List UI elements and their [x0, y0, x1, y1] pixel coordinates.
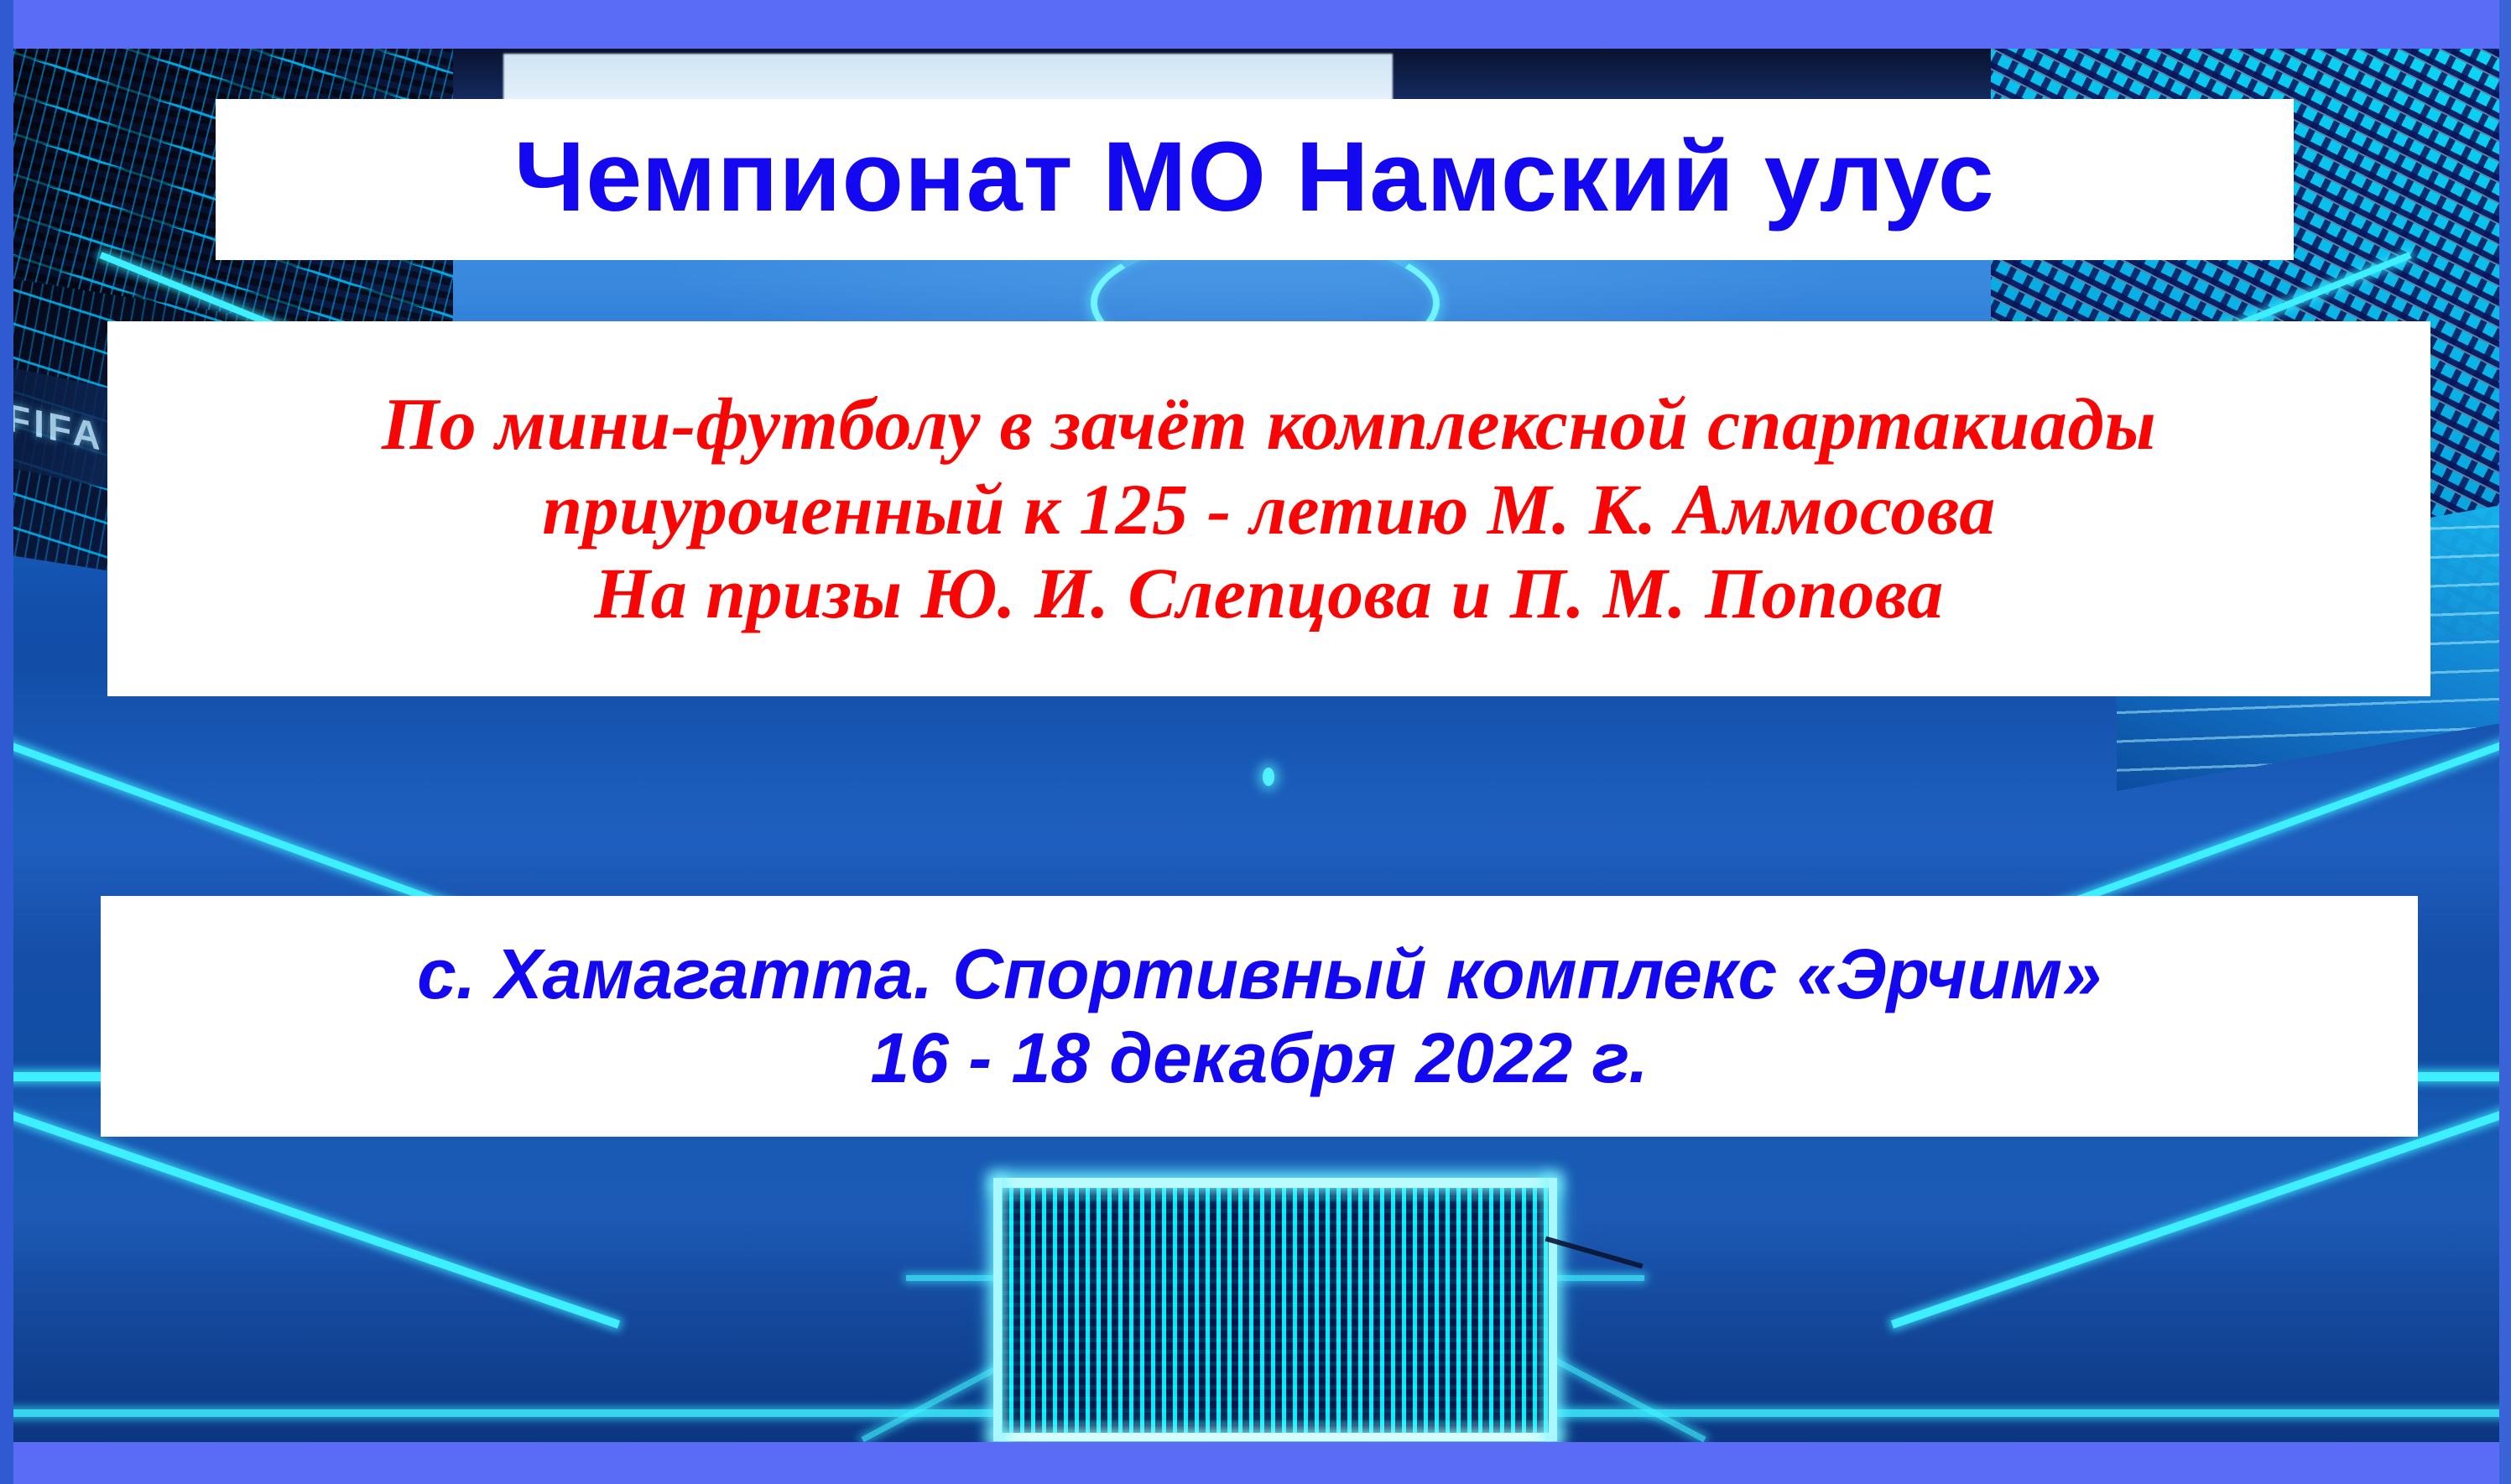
venue-date-line: 16 - 18 декабря 2022 г. [870, 1017, 1648, 1100]
goal-post-right [1549, 1178, 1557, 1441]
goal-base-bar [995, 1433, 1555, 1441]
description-panel: По мини-футболу в зачёт комплексной спар… [107, 321, 2430, 696]
goal-crossbar [995, 1178, 1555, 1188]
frame-bar-top [0, 0, 2511, 49]
venue-panel: с. Хамагатта. Спортивный комплекс «Эрчим… [101, 896, 2418, 1137]
frame-bar-left [0, 0, 13, 1484]
description-line-3: На призы Ю. И. Слепцова и П. М. Попова [594, 552, 1943, 636]
goal-post-left [993, 1178, 1002, 1441]
goal-net-mesh [998, 1185, 1552, 1436]
description-line-2: приуроченный к 125 - летию М. К. Аммосов… [542, 468, 1996, 552]
frame-bar-bottom [0, 1442, 2511, 1484]
poster-title: Чемпионат МО Намский улус [514, 128, 1995, 227]
description-line-1: По мини-футболу в зачёт комплексной спар… [382, 383, 2156, 468]
venue-location-line: с. Хамагатта. Спортивный комплекс «Эрчим… [417, 933, 2102, 1016]
title-panel: Чемпионат МО Намский улус [216, 99, 2294, 260]
frame-bar-right [2499, 0, 2511, 1484]
futsal-goal [998, 1185, 1552, 1436]
court-center-spot [1263, 768, 1274, 786]
poster-canvas: FIFA [0, 0, 2511, 1484]
